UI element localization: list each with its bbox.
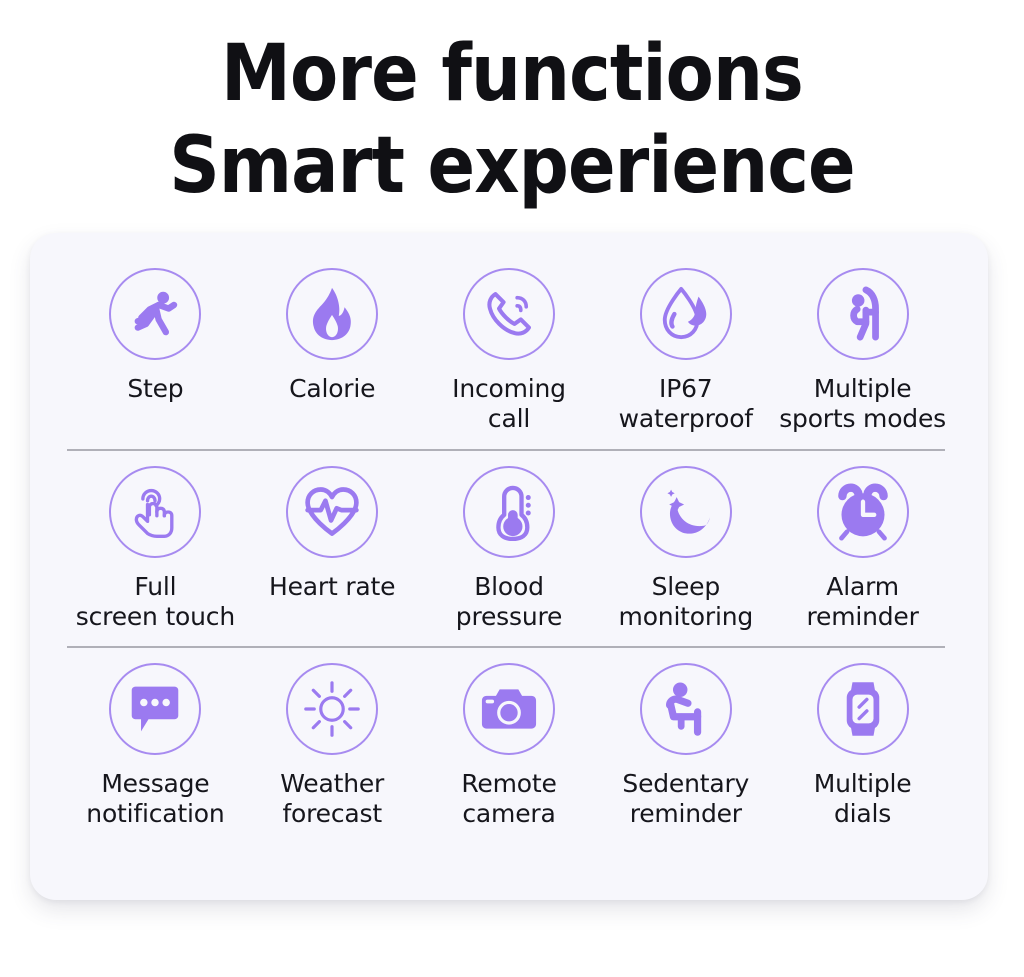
feature-label: Message notification [86,769,224,829]
stretching-person-icon [817,268,909,360]
feature-item-remote-camera[interactable]: Remote camera [421,648,598,829]
feature-label: IP67 waterproof [619,374,753,434]
feature-label: Heart rate [269,572,395,602]
camera-icon [463,663,555,755]
phone-call-icon [463,268,555,360]
heart-pulse-icon [286,466,378,558]
feature-label: Step [127,374,183,404]
feature-poster: More functions Smart experience [0,0,1024,977]
feature-item-calorie[interactable]: Calorie [244,253,421,404]
feature-item-incoming-call[interactable]: Incoming call [421,253,598,434]
feature-item-multiple-dials[interactable]: Multiple dials [774,648,951,829]
tap-hand-icon [109,466,201,558]
feature-label: Sedentary reminder [622,769,749,829]
water-drop-icon [640,268,732,360]
feature-label: Blood pressure [456,572,562,632]
features-grid: Step Calorie [67,253,951,880]
feature-label: Remote camera [461,769,556,829]
feature-label: Incoming call [452,374,566,434]
feature-label: Alarm reminder [806,572,918,632]
feature-item-multiple-sports-modes[interactable]: Multiple sports modes [774,253,951,434]
feature-item-blood-pressure[interactable]: Blood pressure [421,451,598,632]
running-person-icon [109,268,201,360]
smartwatch-icon [817,663,909,755]
features-card: Step Calorie [30,233,988,900]
chat-bubble-icon [109,663,201,755]
feature-item-step[interactable]: Step [67,253,244,404]
flame-icon [286,268,378,360]
feature-item-alarm-reminder[interactable]: Alarm reminder [774,451,951,632]
page-title: More functions Smart experience [51,28,973,212]
thermometer-icon [463,466,555,558]
feature-label: Full screen touch [76,572,235,632]
feature-item-full-screen-touch[interactable]: Full screen touch [67,451,244,632]
page-title-line-1: More functions [51,28,973,120]
feature-label: Calorie [289,374,375,404]
features-row-1: Step Calorie [67,253,951,449]
feature-item-heart-rate[interactable]: Heart rate [244,451,421,602]
seated-person-icon [640,663,732,755]
feature-item-sedentary-reminder[interactable]: Sedentary reminder [597,648,774,829]
feature-label: Multiple sports modes [779,374,946,434]
features-row-2: Full screen touch Heart rate [67,451,951,646]
moon-stars-icon [640,466,732,558]
page-title-line-2: Smart experience [51,120,973,212]
feature-item-sleep-monitoring[interactable]: Sleep monitoring [597,451,774,632]
sun-icon [286,663,378,755]
feature-label: Multiple dials [814,769,912,829]
alarm-clock-icon [817,466,909,558]
feature-label: Weather forecast [280,769,384,829]
feature-item-message-notification[interactable]: Message notification [67,648,244,829]
feature-item-ip67-waterproof[interactable]: IP67 waterproof [597,253,774,434]
features-row-3: Message notification [67,648,951,843]
feature-label: Sleep monitoring [619,572,753,632]
feature-item-weather-forecast[interactable]: Weather forecast [244,648,421,829]
